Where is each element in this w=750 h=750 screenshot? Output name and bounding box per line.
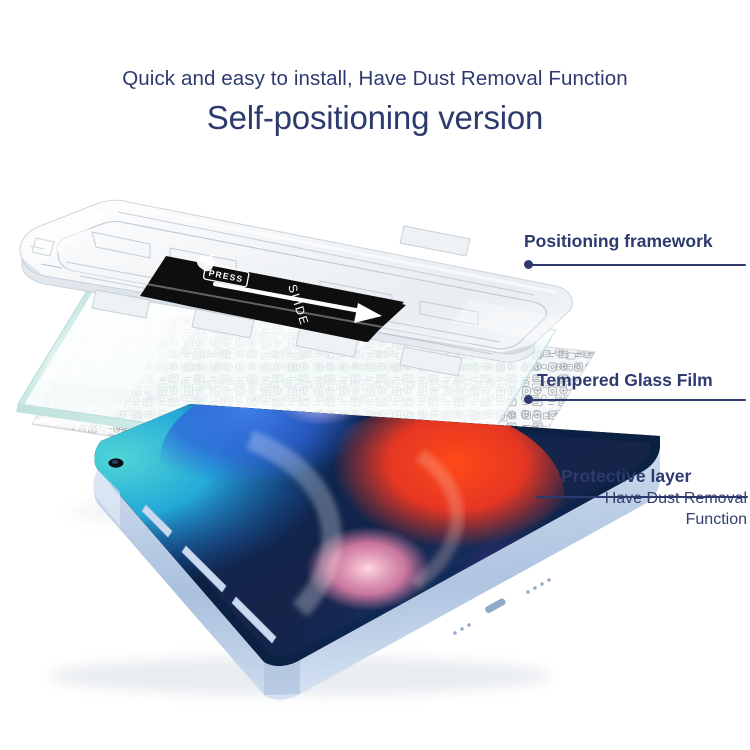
lightning-port (484, 597, 507, 614)
speaker-grille-left (453, 623, 470, 634)
connector-protective-layer (530, 490, 748, 504)
connector-line (536, 496, 748, 498)
connector-positioning-framework (524, 258, 748, 272)
tray-tab-top (400, 226, 470, 256)
product-infographic: Quick and easy to install, Have Dust Rem… (0, 0, 750, 750)
callout-positioning-framework: Positioning framework (524, 231, 713, 251)
connector-dot (524, 260, 533, 269)
connector-line (530, 399, 746, 401)
callout-label-positioning-framework: Positioning framework (524, 231, 713, 251)
connector-line (530, 264, 746, 266)
callout-label-protective-layer: Protective layer (561, 466, 747, 486)
callout-tempered-glass-film: Tempered Glass Film (537, 370, 713, 390)
speaker-grille-right (526, 578, 550, 593)
connector-dot (524, 395, 533, 404)
connector-tempered-glass-film (524, 393, 748, 407)
callout-label-tempered-glass-film: Tempered Glass Film (537, 370, 713, 390)
